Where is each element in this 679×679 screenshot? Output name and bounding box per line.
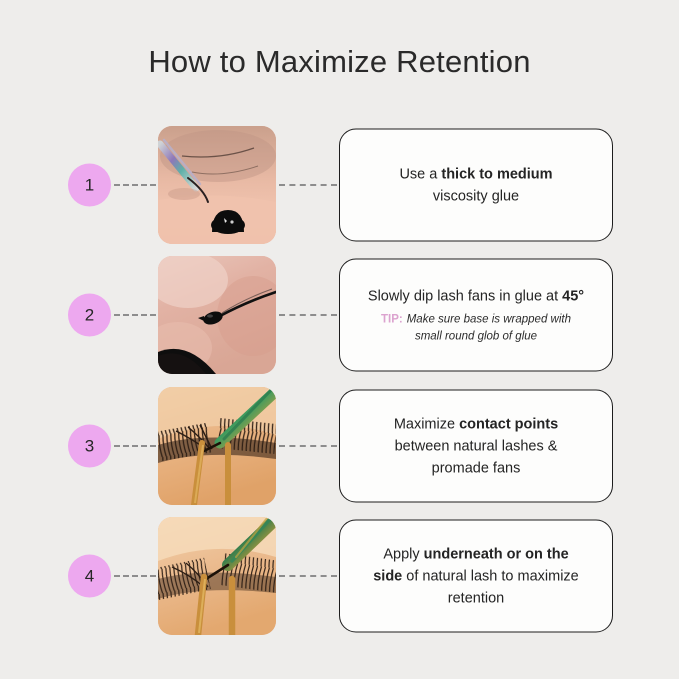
step-card-1: Use a thick to medium viscosity glue (339, 129, 613, 242)
lash-fan-dipped-in-glue-icon (158, 256, 276, 374)
step-text-line-3: promade fans (432, 457, 521, 479)
step-tip-line: TIP:Make sure base is wrapped with (381, 311, 571, 328)
tweezers-isolating-lashes-icon (158, 387, 276, 505)
step-number-label: 3 (85, 436, 94, 456)
step-text-plain: Maximize (394, 416, 459, 432)
step-text-plain: Slowly dip lash fans in glue at (368, 288, 562, 304)
step-number-badge-4: 4 (68, 555, 111, 598)
step-text-line-1: Apply underneath or on the (383, 543, 568, 565)
step-card-2: Slowly dip lash fans in glue at 45° TIP:… (339, 259, 613, 372)
step-number-badge-3: 3 (68, 425, 111, 468)
step-tip-line-2: small round glob of glue (415, 328, 537, 345)
step-text-plain-2: of natural lash to maximize (402, 568, 579, 584)
connector-photo-to-card (279, 184, 337, 186)
connector-badge-to-photo (114, 184, 156, 186)
step-row: 1 (0, 120, 679, 250)
step-number-label: 1 (85, 175, 94, 195)
step-text-line-3: retention (448, 587, 504, 609)
step-text-line-1: Slowly dip lash fans in glue at 45° (368, 285, 584, 307)
step-text-line-1: Maximize contact points (394, 413, 558, 435)
step-text-emphasis: 45° (562, 288, 584, 304)
step-photo-4 (158, 517, 276, 635)
tip-text: Make sure base is wrapped with (407, 313, 571, 325)
connector-photo-to-card (279, 445, 337, 447)
step-card-4: Apply underneath or on the side of natur… (339, 520, 613, 633)
tweezers-glue-drop-icon (158, 126, 276, 244)
step-text-plain: Use a (399, 166, 441, 182)
step-photo-2 (158, 256, 276, 374)
step-text-line-2: between natural lashes & (395, 435, 558, 457)
step-number-label: 4 (85, 566, 94, 586)
step-photo-3 (158, 387, 276, 505)
connector-photo-to-card (279, 575, 337, 577)
step-number-badge-1: 1 (68, 164, 111, 207)
step-text-emphasis: thick to medium (441, 166, 552, 182)
step-number-label: 2 (85, 305, 94, 325)
infographic-root: How to Maximize Retention 1 (0, 0, 679, 679)
step-text-emphasis-2: side (373, 568, 402, 584)
step-text-emphasis: contact points (459, 416, 558, 432)
step-text-line-1: Use a thick to medium (399, 163, 552, 185)
step-text-emphasis: underneath or on the (424, 546, 569, 562)
connector-badge-to-photo (114, 575, 156, 577)
applying-lash-under-natural-lash-icon (158, 517, 276, 635)
page-title: How to Maximize Retention (0, 44, 679, 80)
step-text-line-2: side of natural lash to maximize (373, 565, 579, 587)
step-number-badge-2: 2 (68, 294, 111, 337)
step-text-line-2: viscosity glue (433, 185, 519, 207)
connector-badge-to-photo (114, 445, 156, 447)
tip-label: TIP: (381, 313, 403, 325)
step-photo-1 (158, 126, 276, 244)
step-row: 2 (0, 250, 679, 380)
step-row: 3 (0, 381, 679, 511)
connector-badge-to-photo (114, 314, 156, 316)
step-card-3: Maximize contact points between natural … (339, 390, 613, 503)
step-text-plain: Apply (383, 546, 423, 562)
step-row: 4 (0, 511, 679, 641)
connector-photo-to-card (279, 314, 337, 316)
